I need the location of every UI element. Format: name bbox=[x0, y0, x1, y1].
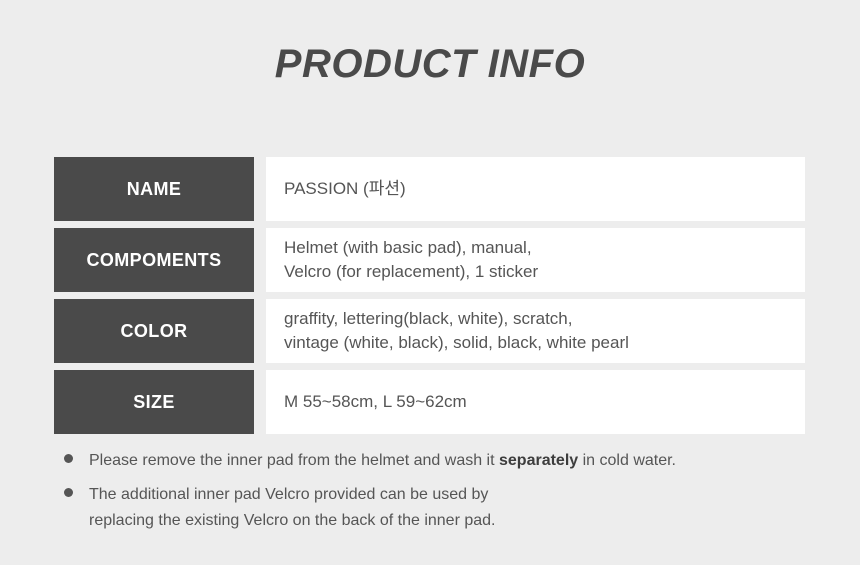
spec-row-value: Helmet (with basic pad), manual,Velcro (… bbox=[266, 228, 805, 292]
spec-row-value-line: graffity, lettering(black, white), scrat… bbox=[284, 307, 791, 331]
spec-row-value-line: PASSION (파션) bbox=[284, 177, 791, 201]
care-note-segment: Please remove the inner pad from the hel… bbox=[89, 452, 499, 469]
care-note-segment: replacing the existing Velcro on the bac… bbox=[89, 512, 495, 529]
spec-row-value-line: Velcro (for replacement), 1 sticker bbox=[284, 260, 791, 284]
spec-row: COLORgraffity, lettering(black, white), … bbox=[54, 299, 805, 363]
care-note-item: The additional inner pad Velcro provided… bbox=[64, 482, 824, 534]
care-note-segment: The additional inner pad Velcro provided… bbox=[89, 486, 488, 503]
spec-row-label: COMPOMENTS bbox=[54, 228, 254, 292]
spec-row-label: SIZE bbox=[54, 370, 254, 434]
care-note-segment: in cold water. bbox=[578, 452, 676, 469]
spec-row-value-line: Helmet (with basic pad), manual, bbox=[284, 236, 791, 260]
care-note-item: Please remove the inner pad from the hel… bbox=[64, 448, 824, 474]
care-note-line: Please remove the inner pad from the hel… bbox=[89, 448, 676, 474]
product-info-page: PRODUCT INFO NAMEPASSION (파션)COMPOMENTSH… bbox=[0, 0, 860, 565]
care-notes-list: Please remove the inner pad from the hel… bbox=[64, 448, 824, 542]
spec-row-value-line: vintage (white, black), solid, black, wh… bbox=[284, 331, 791, 355]
spec-row-value: M 55~58cm, L 59~62cm bbox=[266, 370, 805, 434]
spec-row-label: NAME bbox=[54, 157, 254, 221]
page-title: PRODUCT INFO bbox=[0, 44, 860, 84]
bullet-dot-icon bbox=[64, 454, 73, 463]
spec-table: NAMEPASSION (파션)COMPOMENTSHelmet (with b… bbox=[54, 157, 805, 441]
care-note-text: The additional inner pad Velcro provided… bbox=[89, 482, 495, 534]
bullet-dot-icon bbox=[64, 488, 73, 497]
spec-row: SIZEM 55~58cm, L 59~62cm bbox=[54, 370, 805, 434]
spec-row: COMPOMENTSHelmet (with basic pad), manua… bbox=[54, 228, 805, 292]
care-note-line: replacing the existing Velcro on the bac… bbox=[89, 508, 495, 534]
spec-row-label: COLOR bbox=[54, 299, 254, 363]
spec-row-value: graffity, lettering(black, white), scrat… bbox=[266, 299, 805, 363]
spec-row: NAMEPASSION (파션) bbox=[54, 157, 805, 221]
care-note-line: The additional inner pad Velcro provided… bbox=[89, 482, 495, 508]
spec-row-value-line: M 55~58cm, L 59~62cm bbox=[284, 390, 791, 414]
spec-row-value: PASSION (파션) bbox=[266, 157, 805, 221]
care-note-emphasis: separately bbox=[499, 452, 578, 469]
care-note-text: Please remove the inner pad from the hel… bbox=[89, 448, 676, 474]
